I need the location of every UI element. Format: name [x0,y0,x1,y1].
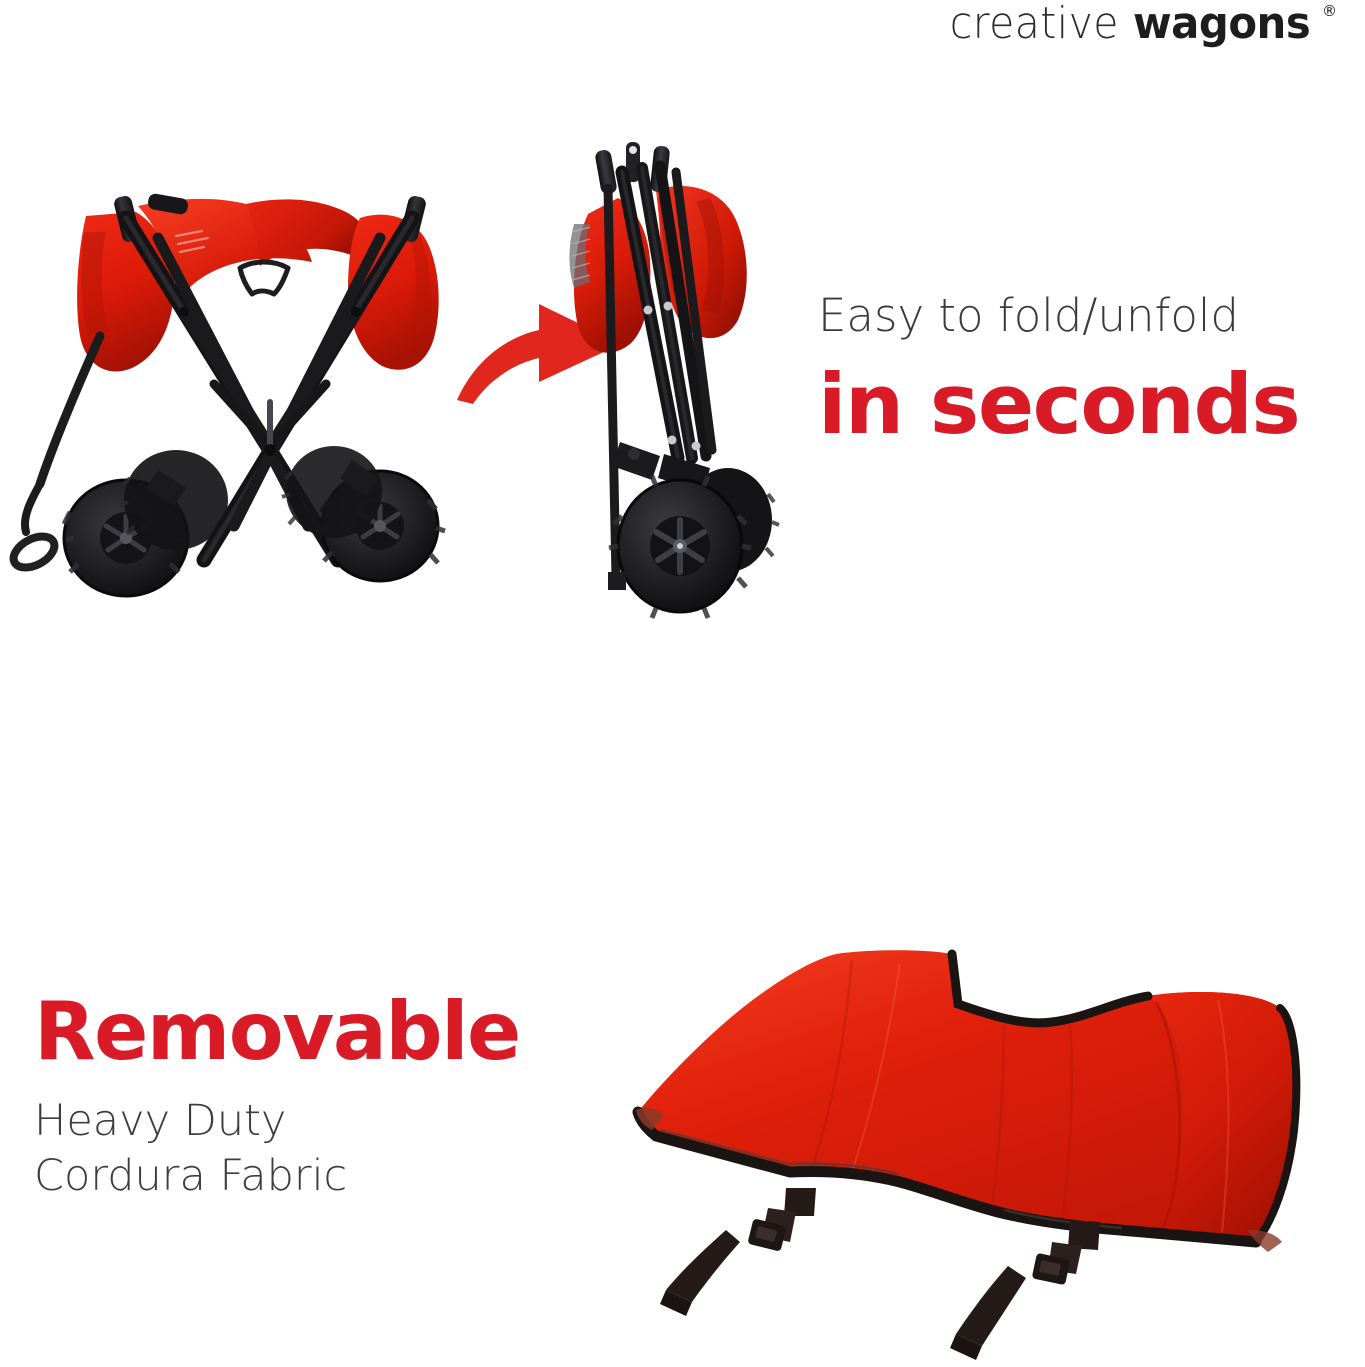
brand-logo: creative wagons ® [937,2,1337,46]
product-feature-poster: creative wagons ® [0,0,1365,1367]
strap-tail-right [956,1266,1026,1346]
brand-logo-word-light: creative [950,2,1119,46]
headline-title: in seconds [818,363,1358,446]
registered-trademark-icon: ® [1322,4,1337,19]
folded-axle-bracket [612,442,660,480]
feature-line-1: Heavy Duty [34,1094,634,1149]
feature-description: Heavy Duty Cordura Fabric [34,1094,634,1204]
feature-title: Removable [34,992,634,1072]
strap-tail-left [666,1230,740,1302]
fabric-buckle-strap-left [660,1188,816,1316]
wagon-partially-folded-illustration [8,140,478,600]
center-handle-loop [240,262,288,294]
headline-block: Easy to fold/unfold in seconds [818,292,1358,446]
removable-fabric-illustration [600,930,1325,1367]
stand-foot [608,572,626,590]
brand-logo-word-bold: wagons [1133,2,1310,46]
wagon-fully-folded-illustration [560,128,810,633]
headline-subtitle: Easy to fold/unfold [818,292,1358,339]
feature-line-2: Cordura Fabric [34,1149,634,1204]
fabric-buckle-strap-right [950,1220,1100,1360]
feature-block: Removable Heavy Duty Cordura Fabric [34,992,634,1204]
